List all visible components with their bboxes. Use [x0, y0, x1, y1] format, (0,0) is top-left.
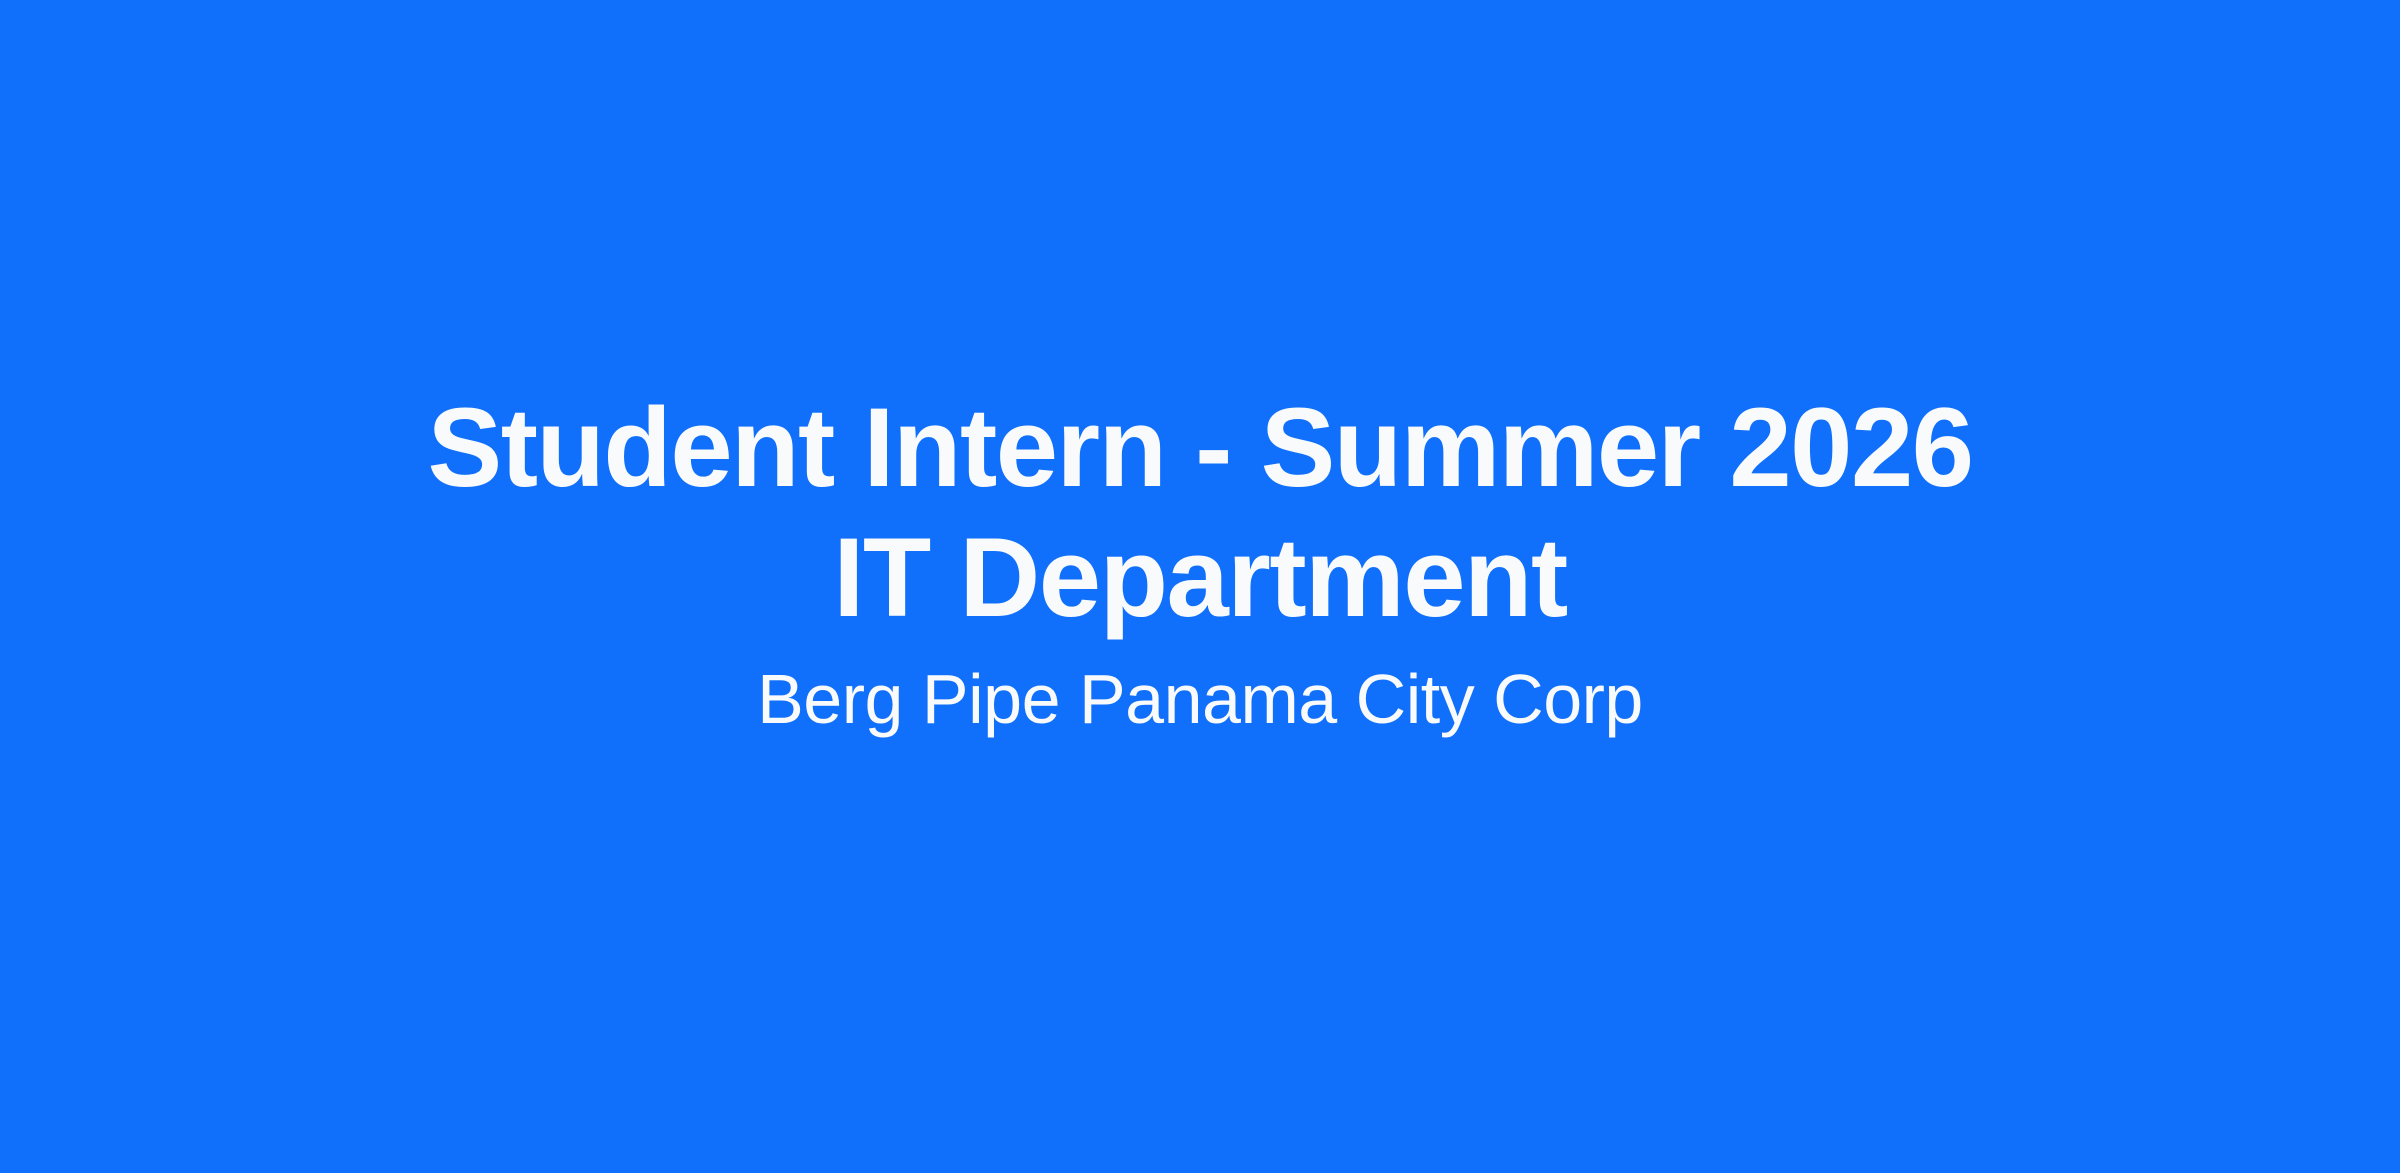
page-title: Student Intern - Summer 2026 IT Departme… — [427, 383, 1972, 643]
slide-content-block: Student Intern - Summer 2026 IT Departme… — [300, 383, 2100, 742]
page-subtitle: Berg Pipe Panama City Corp — [757, 657, 1643, 742]
title-slide: Student Intern - Summer 2026 IT Departme… — [0, 0, 2400, 1173]
